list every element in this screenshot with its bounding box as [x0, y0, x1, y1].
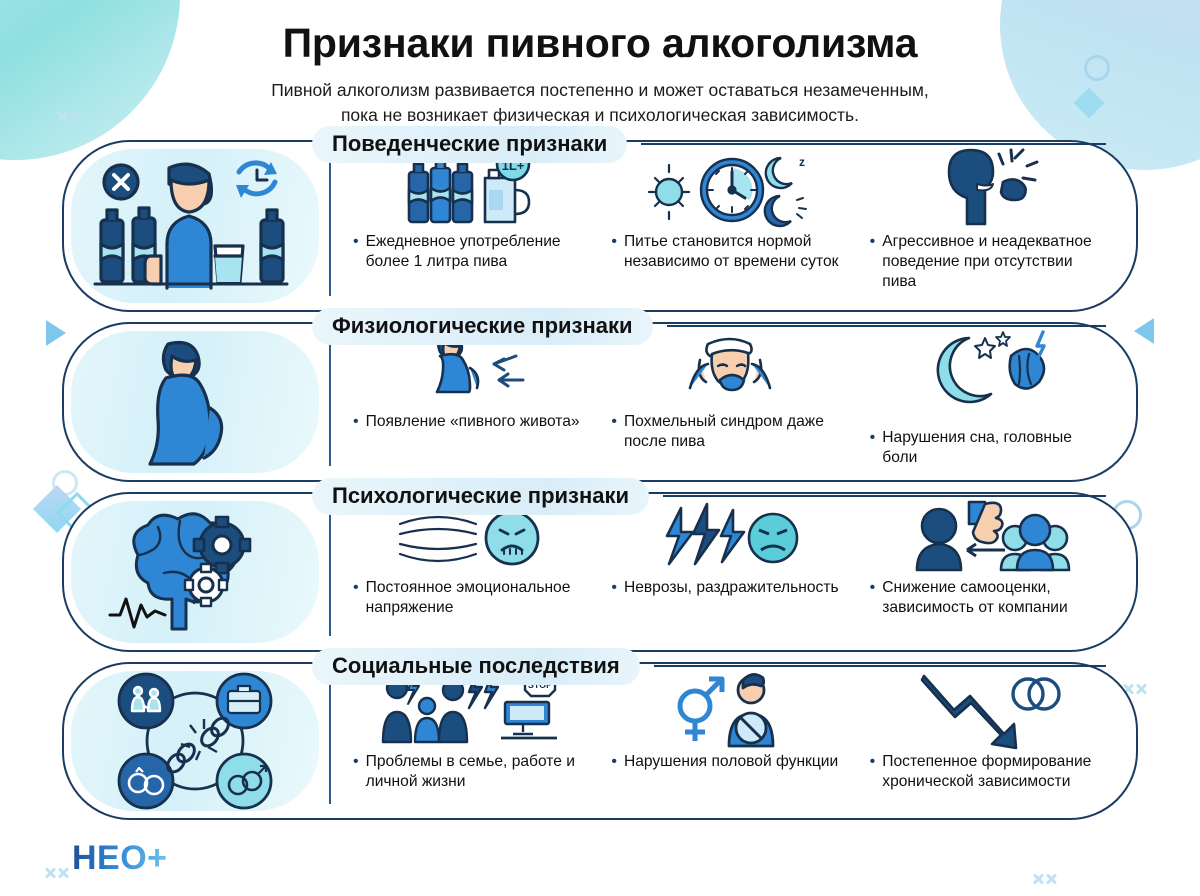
section-items: STOP • Проблемы в семье, работе и личной…	[343, 664, 1136, 818]
brand-logo: НЕО+	[72, 839, 168, 878]
section-items: • Появление «пивного живота»	[343, 324, 1136, 480]
bullet-icon: •	[870, 578, 876, 619]
section-title: Поведенческие признаки	[312, 126, 627, 163]
list-item-text: • Нарушения сна, головные боли	[866, 428, 1110, 469]
sparkle-icon	[1028, 862, 1062, 896]
section-illustration-panel	[71, 331, 319, 473]
bullet-icon: •	[611, 578, 617, 598]
list-item: • Неврозы, раздражительность	[601, 494, 859, 650]
subtitle-line-2: пока не возникает физическая и психологи…	[0, 103, 1200, 128]
list-item: 1L+ • Ежедневное употребление более 1 ли…	[343, 142, 601, 310]
section-illustration-panel	[71, 149, 319, 303]
section-rule	[654, 665, 1106, 668]
section-social: STOP • Проблемы в семье, работе и личной…	[62, 662, 1138, 820]
section-psychological: • Постоянное эмоциональное напряжение	[62, 492, 1138, 652]
broken-chain-life-circles-icon	[100, 677, 290, 805]
list-item: • Нарушения половой функции	[601, 664, 859, 818]
bullet-icon: •	[611, 232, 617, 273]
section-rule	[663, 495, 1106, 498]
list-item: STOP • Проблемы в семье, работе и личной…	[343, 664, 601, 818]
list-item-label: Питье становится нормой независимо от вр…	[624, 232, 852, 273]
list-item: • Постепенное формирование хронической з…	[860, 664, 1118, 818]
panel-divider	[329, 678, 331, 804]
section-illustration-panel	[71, 671, 319, 811]
list-item-label: Появление «пивного живота»	[366, 412, 580, 432]
bullet-icon: •	[353, 232, 359, 273]
list-item: • Снижение самооценки, зависимость от ко…	[860, 494, 1118, 650]
bullet-icon: •	[353, 412, 359, 432]
list-item-label: Ежедневное употребление более 1 литра пи…	[366, 232, 594, 273]
list-item-text: • Питье становится нормой независимо от …	[607, 232, 851, 273]
list-item-text: • Агрессивное и неадекватное поведение п…	[866, 232, 1110, 293]
list-item-text: • Проблемы в семье, работе и личной жизн…	[349, 752, 593, 793]
section-behavioral: 1L+ • Ежедневное употребление более 1 ли…	[62, 140, 1138, 312]
panel-divider	[329, 508, 331, 636]
section-items: 1L+ • Ежедневное употребление более 1 ли…	[343, 142, 1136, 310]
panel-divider	[329, 156, 331, 296]
section-card: • Появление «пивного живота»	[62, 322, 1138, 482]
list-item-text: • Появление «пивного живота»	[349, 412, 593, 432]
bullet-icon: •	[870, 232, 876, 293]
section-rule	[641, 143, 1106, 146]
list-item-text: • Постепенное формирование хронической з…	[866, 752, 1110, 793]
list-item: • Похмельный синдром даже после пива	[601, 324, 859, 480]
list-item-label: Проблемы в семье, работе и личной жизни	[366, 752, 594, 793]
panel-divider	[329, 338, 331, 466]
list-item-label: Постепенное формирование хронической зав…	[882, 752, 1110, 793]
section-label-row: Поведенческие признаки	[312, 126, 1106, 163]
section-label-row: Социальные последствия	[312, 648, 1106, 685]
section-physiological: • Появление «пивного живота»	[62, 322, 1138, 482]
section-illustration-panel	[71, 501, 319, 643]
list-item: • Постоянное эмоциональное напряжение	[343, 494, 601, 650]
section-rule	[667, 325, 1106, 328]
bullet-icon: •	[353, 752, 359, 793]
list-item-label: Нарушения сна, головные боли	[882, 428, 1110, 469]
bullet-icon: •	[870, 428, 876, 469]
bullet-icon: •	[611, 412, 617, 453]
list-item-label: Агрессивное и неадекватное поведение при…	[882, 232, 1110, 293]
bullet-icon: •	[353, 578, 359, 619]
list-item-label: Постоянное эмоциональное напряжение	[366, 578, 594, 619]
section-card: • Постоянное эмоциональное напряжение	[62, 492, 1138, 652]
sections-list: 1L+ • Ежедневное употребление более 1 ли…	[0, 140, 1200, 820]
list-item: • Агрессивное и неадекватное поведение п…	[860, 142, 1118, 310]
section-title: Физиологические признаки	[312, 308, 653, 345]
section-label-row: Физиологические признаки	[312, 308, 1106, 345]
subtitle-line-1: Пивной алкоголизм развивается постепенно…	[0, 78, 1200, 103]
list-item-label: Снижение самооценки, зависимость от комп…	[882, 578, 1110, 619]
section-title: Психологические признаки	[312, 478, 649, 515]
section-items: • Постоянное эмоциональное напряжение	[343, 494, 1136, 650]
section-card: STOP • Проблемы в семье, работе и личной…	[62, 662, 1138, 820]
bullet-icon: •	[870, 752, 876, 793]
brain-with-gears-icon	[102, 511, 288, 633]
page-header: Признаки пивного алкоголизма Пивной алко…	[0, 0, 1200, 128]
list-item-text: • Нарушения половой функции	[607, 752, 851, 772]
page-title: Признаки пивного алкоголизма	[0, 20, 1200, 67]
section-label-row: Психологические признаки	[312, 478, 1106, 515]
section-title: Социальные последствия	[312, 648, 640, 685]
list-item-text: • Постоянное эмоциональное напряжение	[349, 578, 593, 619]
bullet-icon: •	[611, 752, 617, 772]
man-with-belly-profile-icon	[120, 338, 270, 466]
man-with-beer-bottles-icon	[89, 160, 301, 292]
list-item-text: • Неврозы, раздражительность	[607, 578, 851, 598]
list-item-label: Нарушения половой функции	[624, 752, 838, 772]
list-item-text: • Ежедневное употребление более 1 литра …	[349, 232, 593, 273]
list-item-text: • Снижение самооценки, зависимость от ко…	[866, 578, 1110, 619]
list-item: z • Питье становится нормой независимо о…	[601, 142, 859, 310]
section-card: 1L+ • Ежедневное употребление более 1 ли…	[62, 140, 1138, 312]
list-item: • Появление «пивного живота»	[343, 324, 601, 480]
list-item-text: • Похмельный синдром даже после пива	[607, 412, 851, 453]
page-subtitle: Пивной алкоголизм развивается постепенно…	[0, 78, 1200, 128]
list-item-label: Неврозы, раздражительность	[624, 578, 839, 598]
list-item-label: Похмельный синдром даже после пива	[624, 412, 852, 453]
list-item: • Нарушения сна, головные боли	[860, 324, 1118, 480]
sparkle-icon	[40, 856, 74, 890]
